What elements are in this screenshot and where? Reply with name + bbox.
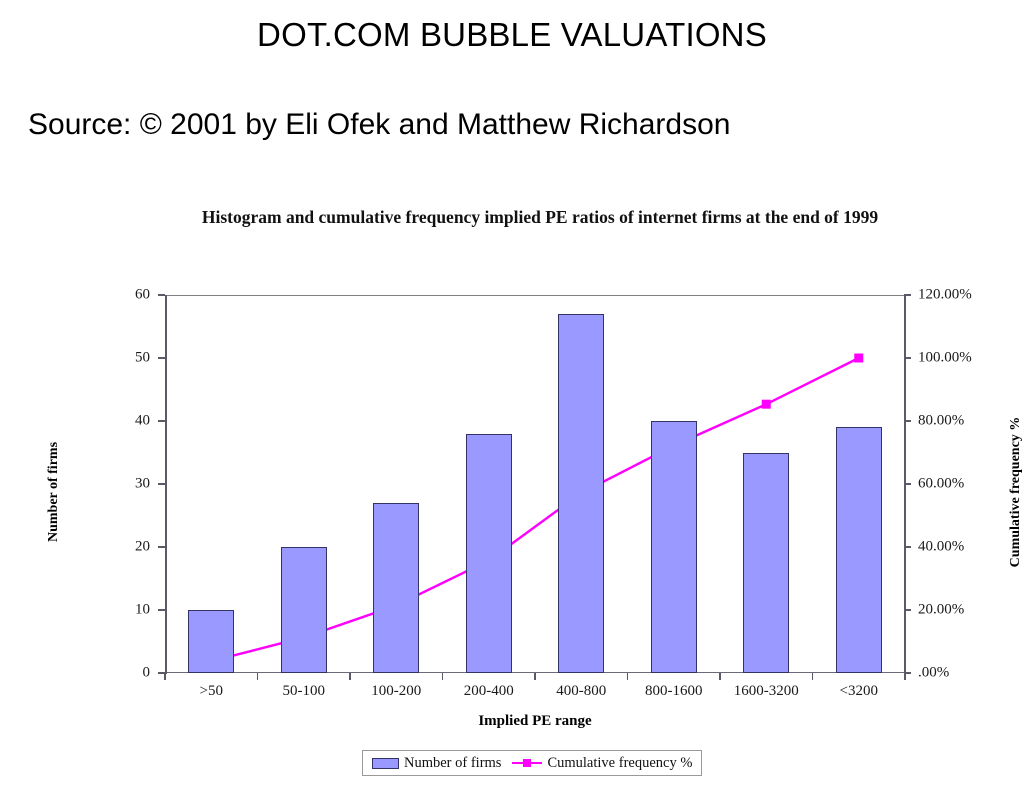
bar-swatch-icon	[372, 758, 399, 769]
bar-number-of-firms	[558, 314, 604, 673]
chart-legend: Number of firms Cumulative frequency %	[362, 750, 702, 776]
y-axis-left-tick-label: 0	[90, 665, 150, 682]
x-axis-tick	[812, 673, 814, 680]
bar-number-of-firms	[188, 610, 234, 673]
plot-area	[165, 295, 905, 673]
legend-label-bars: Number of firms	[404, 755, 501, 772]
legend-entry-line: Cumulative frequency %	[512, 755, 692, 772]
chart-figure: Histogram and cumulative frequency impli…	[0, 185, 1024, 800]
x-axis-tick	[904, 673, 906, 680]
bar-number-of-firms	[373, 503, 419, 673]
bar-number-of-firms	[743, 453, 789, 674]
bar-number-of-firms	[281, 547, 327, 673]
y-axis-left-tick-label: 10	[90, 602, 150, 619]
y-axis-right-tick	[904, 357, 911, 359]
x-axis-tick	[257, 673, 259, 680]
y-axis-right-tick-label: 40.00%	[918, 539, 1008, 556]
slide-title: DOT.COM BUBBLE VALUATIONS	[0, 16, 1024, 54]
y-axis-left-tick-label: 50	[90, 350, 150, 367]
slide-source-line: Source: © 2001 by Eli Ofek and Matthew R…	[28, 108, 730, 142]
legend-entry-bars: Number of firms	[372, 755, 501, 772]
x-axis-tick-label: 1600-3200	[720, 683, 813, 700]
y-axis-left-tick	[158, 294, 165, 296]
y-axis-left-tick	[158, 609, 165, 611]
x-axis-tick	[719, 673, 721, 680]
line-swatch-icon	[512, 758, 542, 769]
y-axis-right-tick-label: 20.00%	[918, 602, 1008, 619]
x-axis-tick-label: 200-400	[443, 683, 536, 700]
x-axis-tick-label: 100-200	[350, 683, 443, 700]
bar-number-of-firms	[466, 434, 512, 673]
legend-label-line: Cumulative frequency %	[547, 755, 692, 772]
x-axis-tick-label: <3200	[813, 683, 906, 700]
y-axis-left-tick-label: 60	[90, 287, 150, 304]
y-axis-left-title: Number of firms	[46, 417, 62, 567]
x-axis-tick-label: 50-100	[258, 683, 351, 700]
y-axis-right-tick-label: 80.00%	[918, 413, 1008, 430]
y-axis-right-title: Cumulative frequency %	[1008, 387, 1024, 597]
x-axis-tick	[627, 673, 629, 680]
y-axis-right-tick-label: 60.00%	[918, 476, 1008, 493]
bar-number-of-firms	[651, 421, 697, 673]
y-axis-right-tick	[904, 420, 911, 422]
y-axis-left-tick-label: 40	[90, 413, 150, 430]
x-axis-tick-label: 400-800	[535, 683, 628, 700]
y-axis-right-tick	[904, 546, 911, 548]
bar-number-of-firms	[836, 427, 882, 673]
y-axis-left-tick	[158, 420, 165, 422]
x-axis-title: Implied PE range	[165, 713, 905, 730]
y-axis-right-tick	[904, 483, 911, 485]
y-axis-left-line	[165, 295, 167, 674]
y-axis-right-tick-label: 120.00%	[918, 287, 1008, 304]
y-axis-right-tick	[904, 609, 911, 611]
y-axis-left-tick-label: 20	[90, 539, 150, 556]
x-axis-tick	[534, 673, 536, 680]
y-axis-right-tick-label: .00%	[918, 665, 1008, 682]
chart-title: Histogram and cumulative frequency impli…	[150, 205, 930, 230]
x-axis-tick-label: >50	[165, 683, 258, 700]
x-axis-tick-label: 800-1600	[628, 683, 721, 700]
y-axis-right-tick	[904, 294, 911, 296]
x-axis-tick	[442, 673, 444, 680]
y-axis-right-tick-label: 100.00%	[918, 350, 1008, 367]
y-axis-left-tick	[158, 357, 165, 359]
x-axis-tick	[349, 673, 351, 680]
y-axis-left-tick	[158, 483, 165, 485]
x-axis-tick	[164, 673, 166, 680]
y-axis-left-tick	[158, 546, 165, 548]
y-axis-left-tick-label: 30	[90, 476, 150, 493]
